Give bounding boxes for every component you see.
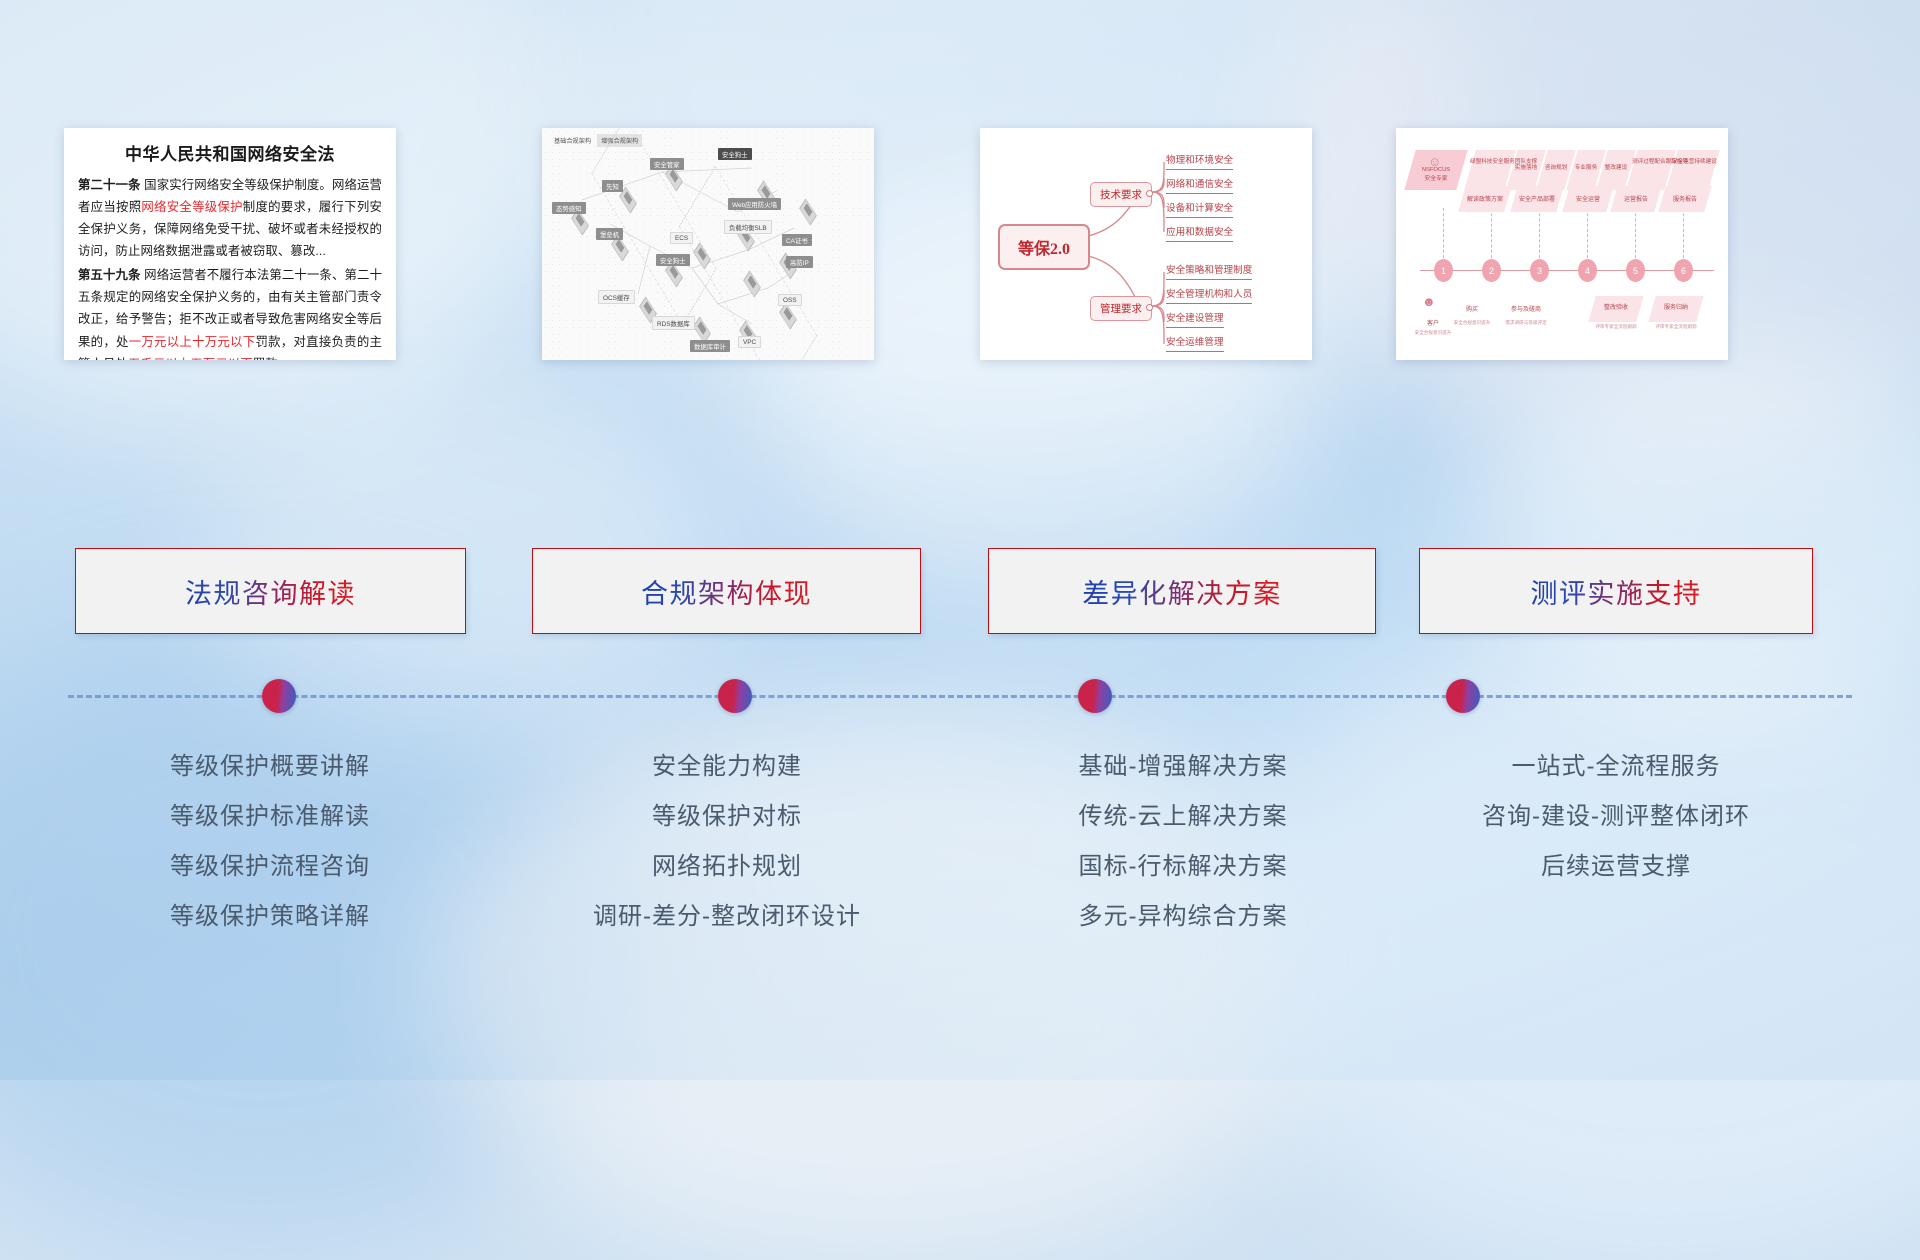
list-item: 后续运营支撑 [1419, 842, 1813, 892]
list-item: 等级保护对标 [532, 792, 922, 842]
list-differentiated-solution: 基础-增强解决方案 传统-云上解决方案 国标-行标解决方案 多元-异构综合方案 [988, 742, 1378, 942]
list-regulation-consulting: 等级保护概要讲解 等级保护标准解读 等级保护流程咨询 等级保护策略详解 [75, 742, 465, 942]
list-item: 多元-异构综合方案 [988, 892, 1378, 942]
list-item: 等级保护策略详解 [75, 892, 465, 942]
list-item: 一站式-全流程服务 [1419, 742, 1813, 792]
list-item: 等级保护流程咨询 [75, 842, 465, 892]
list-item: 安全能力构建 [532, 742, 922, 792]
list-item: 咨询-建设-测评整体闭环 [1419, 792, 1813, 842]
list-item: 基础-增强解决方案 [988, 742, 1378, 792]
list-item: 网络拓扑规划 [532, 842, 922, 892]
list-item: 等级保护概要讲解 [75, 742, 465, 792]
list-item: 等级保护标准解读 [75, 792, 465, 842]
section-lists-row: 等级保护概要讲解 等级保护标准解读 等级保护流程咨询 等级保护策略详解 安全能力… [0, 0, 1920, 1080]
list-item: 传统-云上解决方案 [988, 792, 1378, 842]
list-compliance-architecture: 安全能力构建 等级保护对标 网络拓扑规划 调研-差分-整改闭环设计 [532, 742, 922, 942]
list-item: 调研-差分-整改闭环设计 [532, 892, 922, 942]
list-item: 国标-行标解决方案 [988, 842, 1378, 892]
list-evaluation-support: 一站式-全流程服务 咨询-建设-测评整体闭环 后续运营支撑 [1419, 742, 1813, 892]
